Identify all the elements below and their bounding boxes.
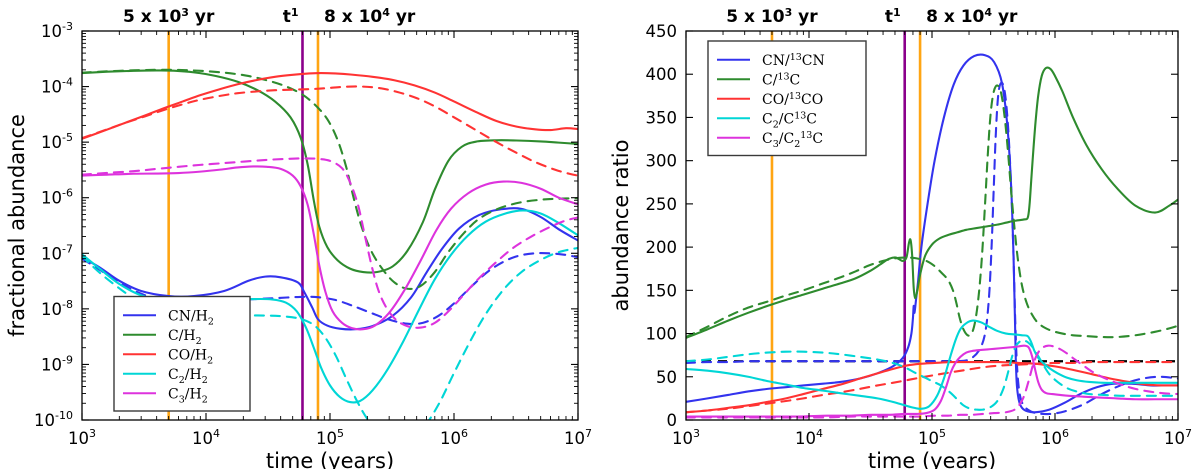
- x-tick-label: 105: [316, 427, 344, 448]
- series-curve: [686, 346, 1178, 418]
- time-annotation-2: 8 x 104 yr: [926, 6, 1018, 27]
- y-tick-label: 10-7: [41, 242, 73, 263]
- x-axis-label: time (years): [868, 449, 996, 469]
- y-tick-label: 0: [667, 411, 678, 430]
- y-tick-label: 10-10: [34, 409, 73, 430]
- y-tick-label: 100: [646, 325, 678, 344]
- x-tick-label: 103: [672, 427, 700, 448]
- x-tick-label: 104: [795, 427, 823, 448]
- series-curve: [82, 86, 578, 175]
- legend: CN/13CNC/13CCO/13COC2/C13CC3/C213C: [708, 41, 866, 156]
- y-axis-label: abundance ratio: [609, 140, 633, 312]
- y-tick-label: 350: [646, 108, 678, 127]
- legend: CN/H2C/H2CO/H2C2/H2C3/H2: [114, 297, 250, 412]
- y-tick-label: 10-5: [41, 131, 73, 152]
- y-tick-label: 10-8: [41, 298, 73, 319]
- y-axis-label: fractional abundance: [5, 114, 29, 337]
- time-annotation-2: 8 x 104 yr: [324, 6, 416, 27]
- figure-root: 5 x 103 yrt18 x 104 yr10310410510610710-…: [0, 0, 1200, 469]
- y-tick-label: 50: [656, 368, 677, 387]
- x-tick-label: 106: [440, 427, 468, 448]
- x-tick-label: 107: [564, 427, 592, 448]
- series-curve: [686, 346, 1178, 417]
- y-tick-label: 250: [646, 195, 678, 214]
- x-tick-label: 103: [68, 427, 96, 448]
- series-curve: [82, 73, 578, 139]
- time-annotation-0: 5 x 103 yr: [123, 6, 215, 27]
- left-panel: 5 x 103 yrt18 x 104 yr10310410510610710-…: [0, 0, 596, 469]
- x-tick-label: 106: [1041, 427, 1069, 448]
- y-tick-label: 10-3: [41, 20, 73, 41]
- x-tick-label: 107: [1164, 427, 1192, 448]
- time-annotation-0: 5 x 103 yr: [726, 6, 818, 27]
- right-panel: 5 x 103 yrt18 x 104 yr103104105106107050…: [604, 0, 1200, 469]
- time-annotation-1: t1: [885, 6, 901, 27]
- y-tick-label: 150: [646, 281, 678, 300]
- y-tick-label: 300: [646, 152, 678, 171]
- panel-abundance-ratio: 5 x 103 yrt18 x 104 yr103104105106107050…: [604, 0, 1200, 469]
- y-tick-label: 10-6: [41, 187, 73, 208]
- y-tick-label: 450: [646, 22, 678, 41]
- time-annotation-1: t1: [283, 6, 299, 27]
- x-tick-label: 104: [192, 427, 220, 448]
- x-axis-label: time (years): [266, 449, 394, 469]
- y-tick-label: 200: [646, 238, 678, 257]
- y-tick-label: 400: [646, 65, 678, 84]
- series-curve: [82, 70, 578, 272]
- panel-fractional-abundance: 5 x 103 yrt18 x 104 yr10310410510610710-…: [0, 0, 596, 469]
- x-tick-label: 105: [918, 427, 946, 448]
- y-tick-label: 10-9: [41, 353, 73, 374]
- y-tick-label: 10-4: [41, 76, 73, 97]
